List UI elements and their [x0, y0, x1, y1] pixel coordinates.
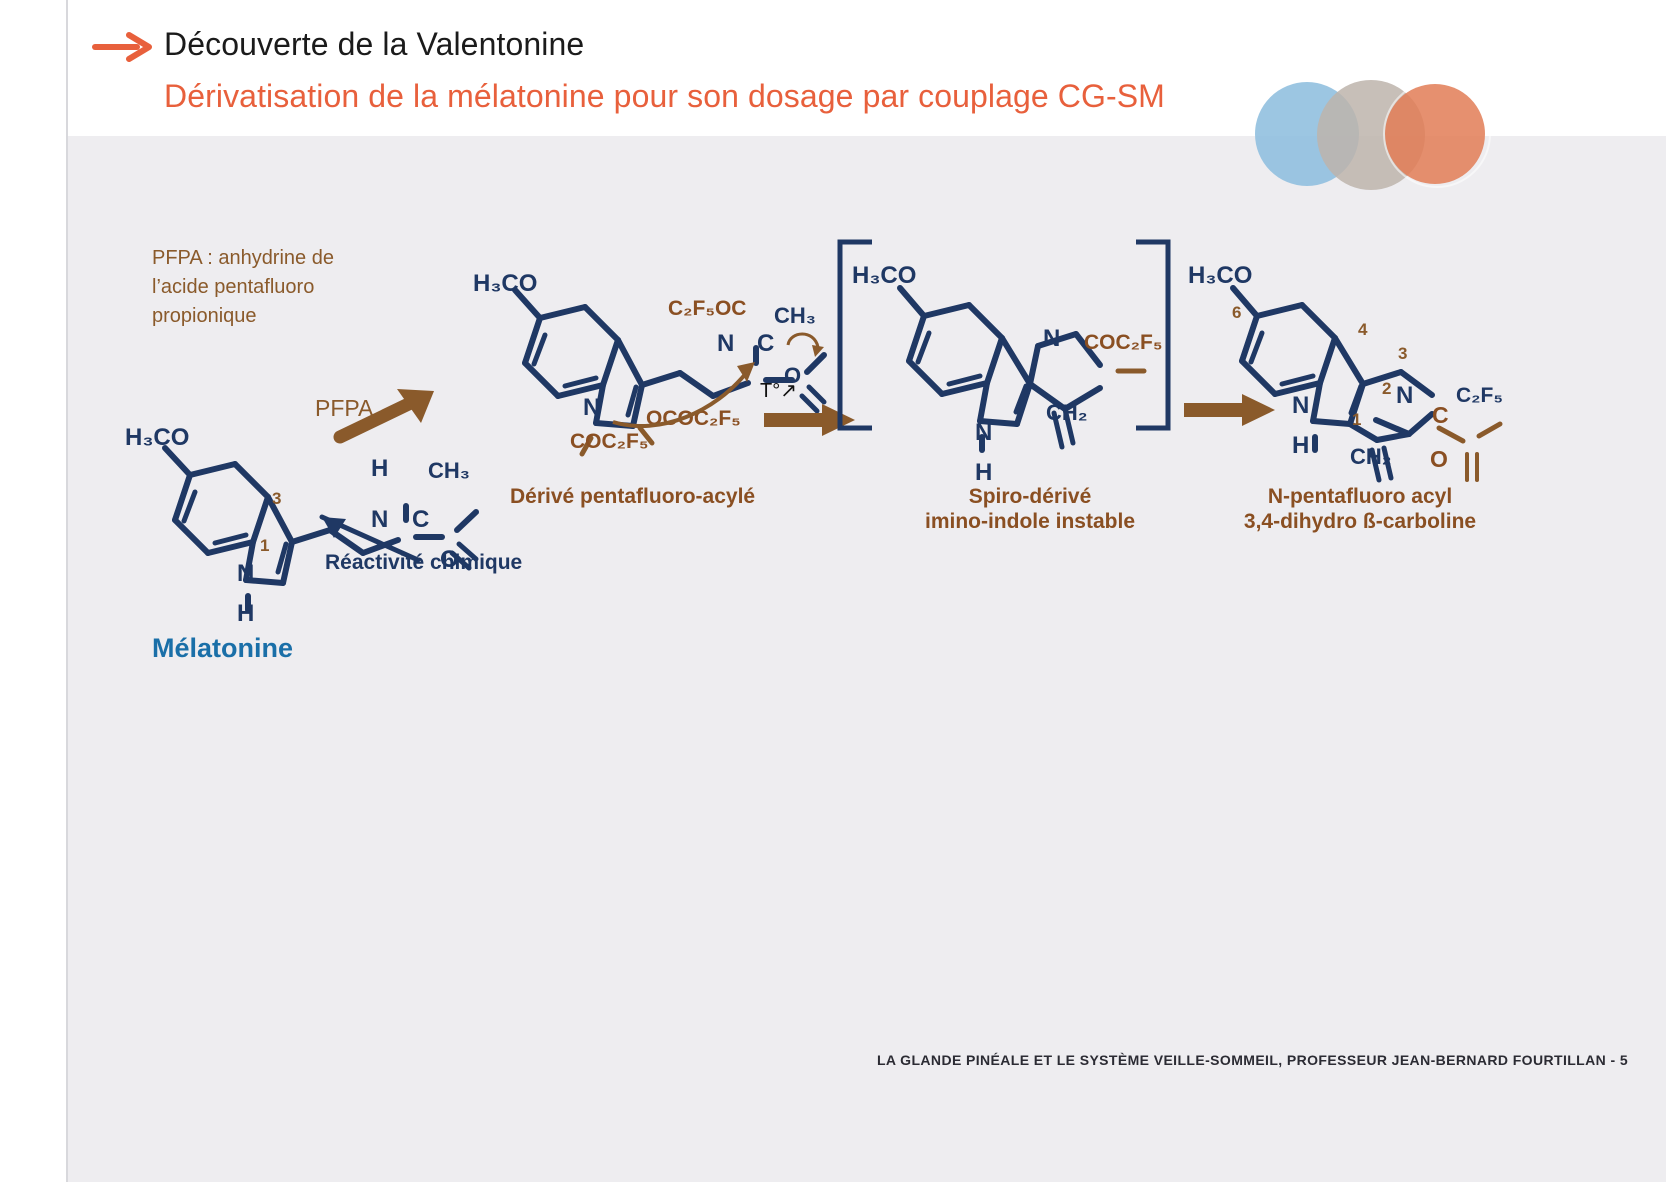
slide-footer: LA GLANDE PINÉALE ET LE SYSTÈME VEILLE-S…	[877, 1052, 1628, 1068]
carboline-ring-nh: H	[1292, 432, 1309, 460]
page-title: Découverte de la Valentonine	[164, 26, 584, 63]
molecule-spiro-caption-line1: Spiro-dérivé	[880, 483, 1180, 510]
carboline-position-1: 1	[1352, 410, 1361, 430]
carboline-exo-methylene: CH₂	[1350, 444, 1392, 470]
molecule-derive2-caption: Dérivé pentafluoro-acylé	[510, 483, 760, 510]
reactivity-label: Réactivité chimique	[325, 551, 522, 575]
melatonine-methoxy-label: H₃CO	[125, 424, 189, 452]
carboline-acyl-carbon: C	[1432, 402, 1449, 429]
footer-page-number: 5	[1620, 1052, 1628, 1068]
melatonine-ring-nh: H	[237, 600, 254, 628]
carboline-position-6: 6	[1232, 303, 1241, 323]
mechanism-curved-arrow-icon	[605, 330, 775, 440]
pfpa-note-line-1: PFPA : anhydrine de	[152, 244, 334, 273]
derive2-methoxy-label: H₃CO	[473, 270, 537, 298]
right-arrow-icon	[93, 30, 155, 64]
melatonine-position-1: 1	[260, 536, 269, 556]
molecule-carboline-caption-line1: N-pentafluoro acyl	[1190, 483, 1530, 510]
temperature-label: T°↗	[760, 378, 797, 403]
carboline-amide-nitrogen: N	[1396, 382, 1413, 410]
molecule-carboline-caption-line2: 3,4-dihydro ß-carboline	[1190, 508, 1530, 535]
melatonine-position-3: 3	[272, 489, 281, 509]
carboline-position-3: 3	[1398, 344, 1407, 364]
carboline-position-2: 2	[1382, 379, 1391, 399]
molecule-melatonine-name: Mélatonine	[152, 633, 293, 664]
footer-text: LA GLANDE PINÉALE ET LE SYSTÈME VEILLE-S…	[877, 1052, 1620, 1068]
logo-circle-outline	[1383, 80, 1491, 188]
slide-root: Découverte de la Valentonine Dérivatisat…	[0, 0, 1666, 1182]
carboline-acyl-oxygen: O	[1430, 446, 1448, 473]
melatonine-ring-nitrogen: N	[237, 560, 254, 588]
carboline-ring-nitrogen: N	[1292, 392, 1309, 420]
spiro-exo-methylene: CH₂	[1046, 400, 1088, 426]
page-subtitle: Dérivatisation de la mélatonine pour son…	[164, 78, 1165, 115]
pfpa-note-line-2: l’acide pentafluoro	[152, 273, 314, 302]
spiro-pyrrolidine-nitrogen: N	[1043, 325, 1060, 353]
spiro-ring-nitrogen: N	[975, 419, 992, 447]
carboline-position-4: 4	[1358, 320, 1367, 340]
spiro-n-acyl-label: COC₂F₅	[1084, 331, 1162, 355]
derive2-ring-nitrogen: N	[583, 394, 600, 422]
melatonine-amide-h: H	[371, 455, 388, 483]
molecule-spiro-caption-line2: imino-indole instable	[880, 508, 1180, 535]
spiro-methoxy-label: H₃CO	[852, 262, 916, 290]
logo-circles	[1255, 80, 1485, 195]
electron-curl-arrow-icon	[782, 325, 828, 367]
pfpa-note-line-3: propionique	[152, 302, 257, 331]
derive2-side-n-acyl-label: C₂F₅OC	[668, 297, 746, 321]
molecule-spiro-derive-structure	[860, 270, 1160, 460]
carboline-pentafluoroethyl: C₂F₅	[1456, 384, 1503, 408]
pfpa-arrow-label: PFPA	[315, 395, 373, 422]
melatonine-methyl: CH₃	[428, 458, 470, 484]
carboline-methoxy-label: H₃CO	[1188, 262, 1252, 290]
